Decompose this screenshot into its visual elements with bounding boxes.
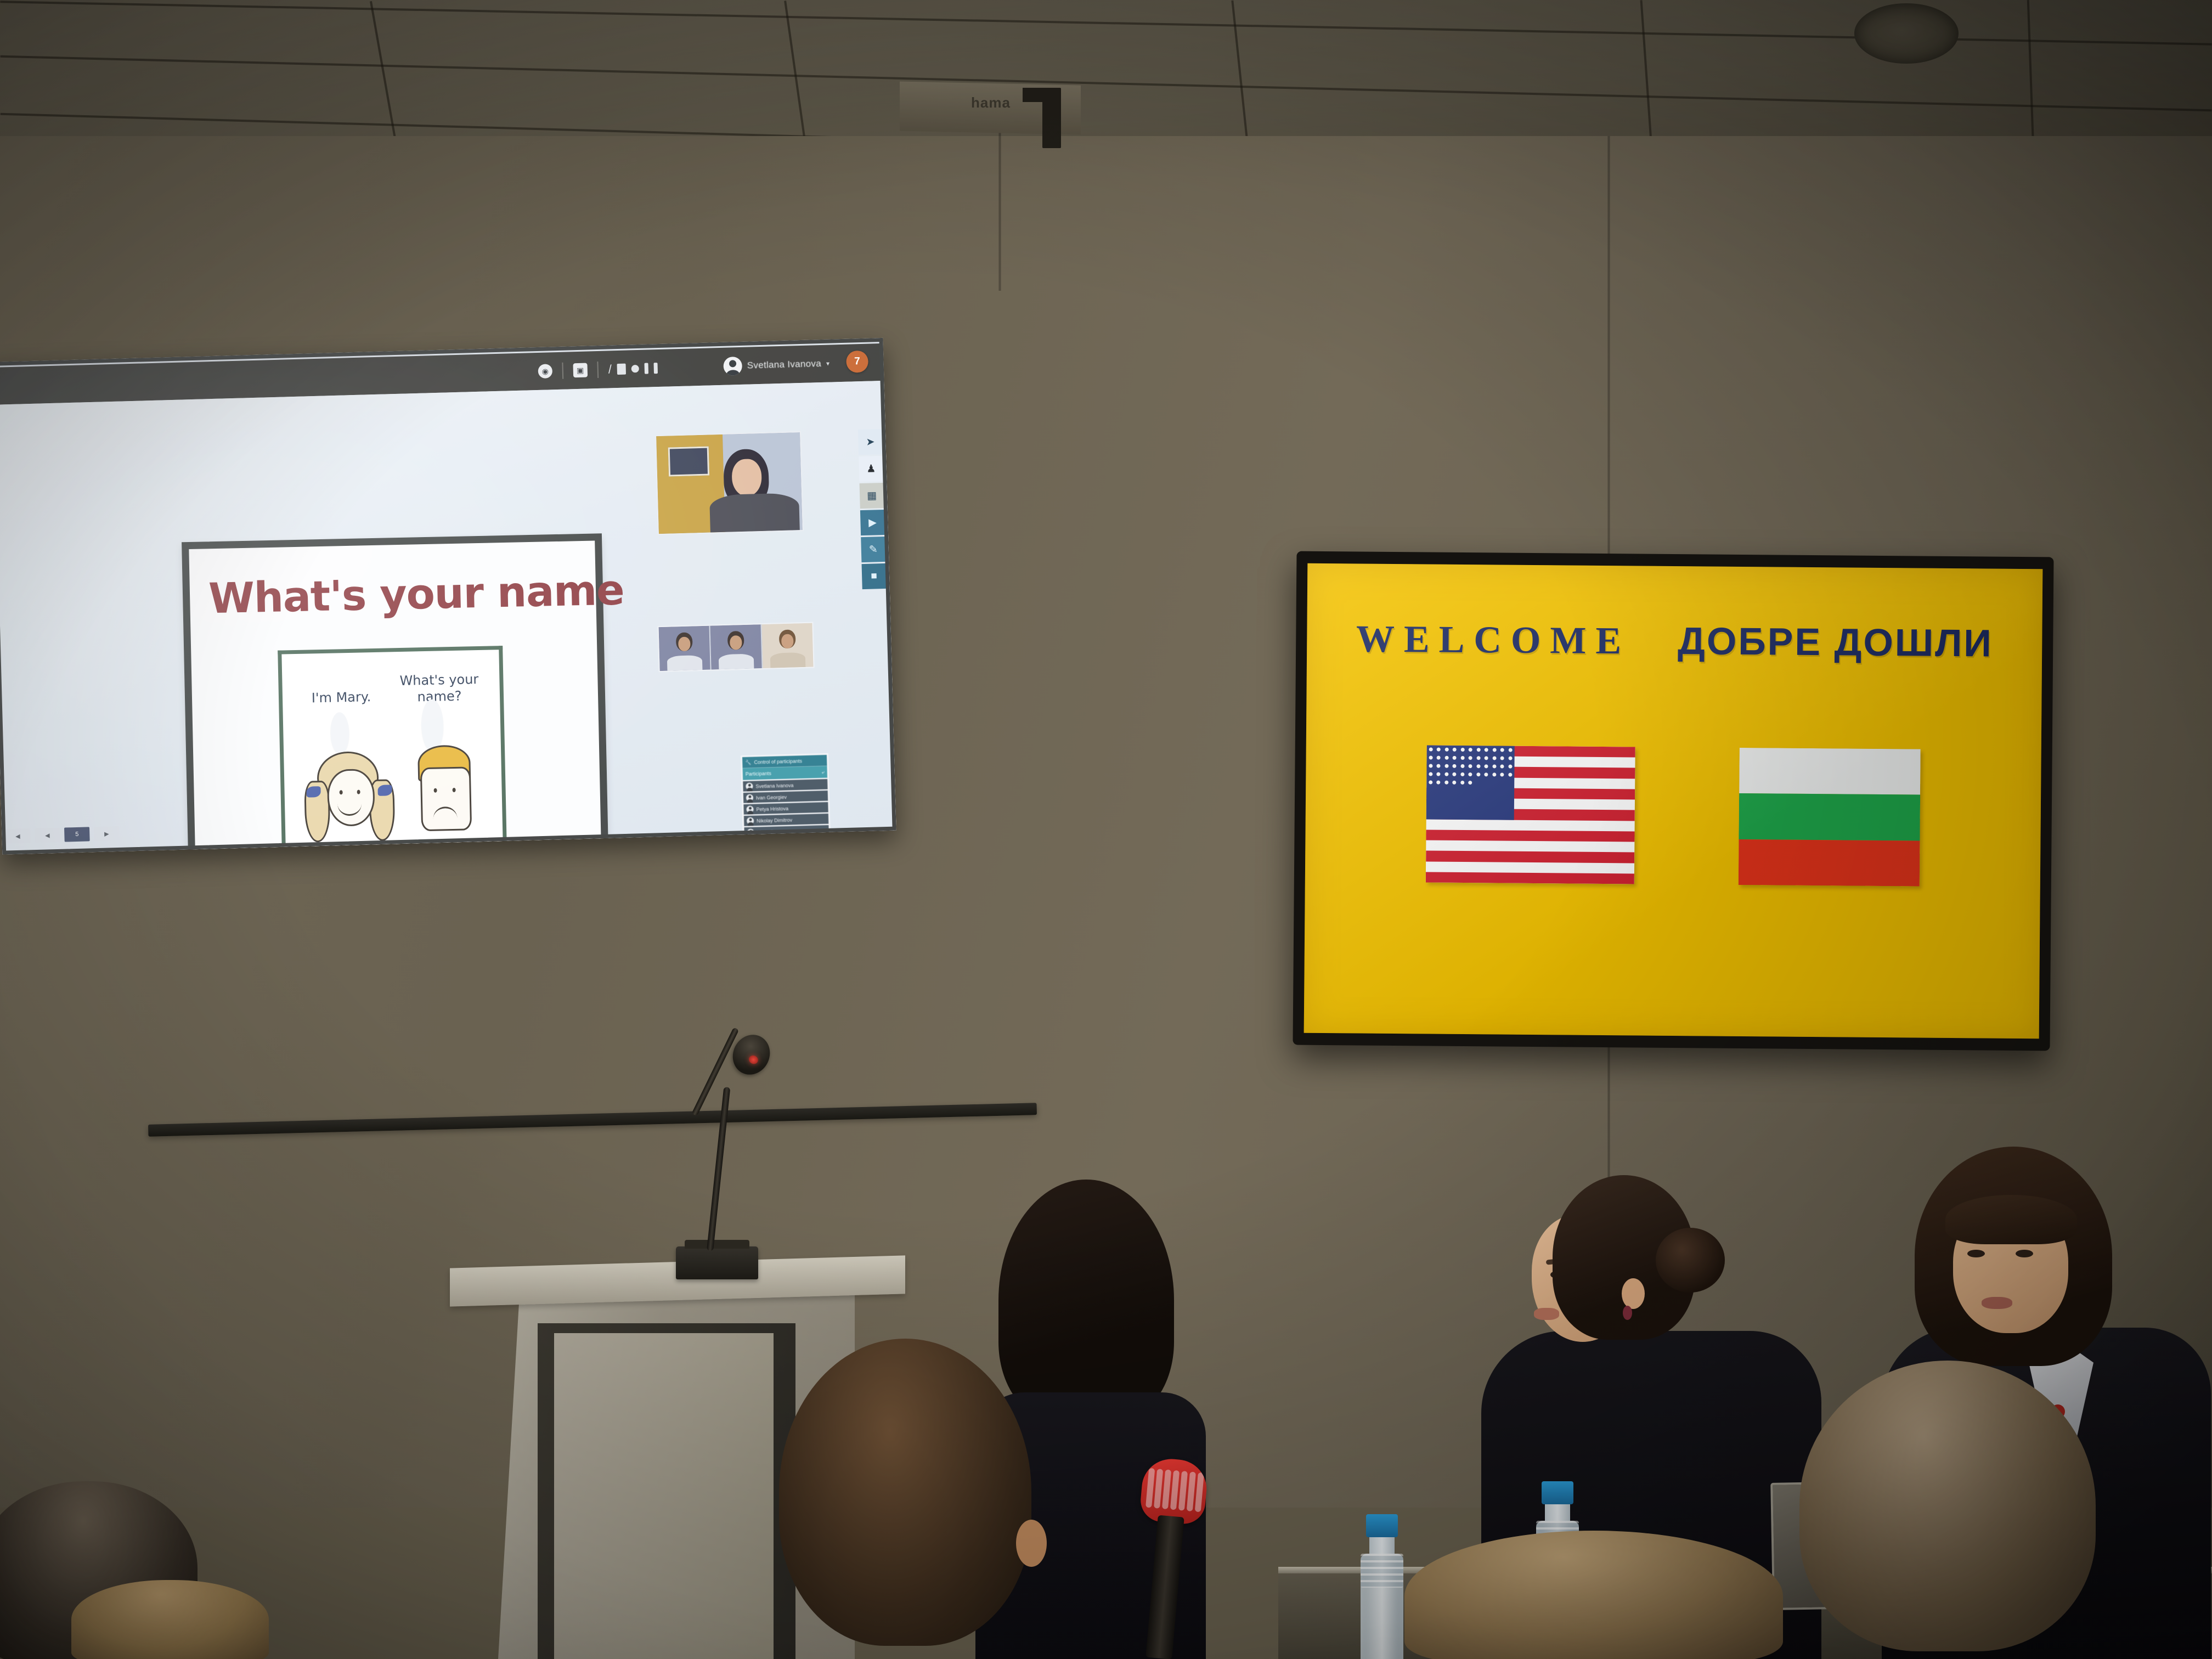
participants-subheader-label: Participants: [746, 771, 771, 777]
bob-woman-eye-right: [2016, 1250, 2033, 1257]
bottle-cap: [1366, 1514, 1398, 1537]
participant-name: Svetlana Ivanova: [755, 782, 793, 789]
panel-woman-ear: [1622, 1278, 1645, 1309]
lectern-inner-panel: [554, 1333, 774, 1659]
usa-flag-star: [1460, 756, 1464, 760]
usa-flag-star: [1444, 772, 1448, 776]
usa-flag-star: [1485, 756, 1488, 760]
audience-head-gray-hair: [1799, 1361, 2107, 1659]
usa-flag-star: [1508, 772, 1512, 776]
bulgaria-green-band: [1739, 793, 1920, 840]
usa-flag-star: [1460, 748, 1464, 752]
slide-title: What's your name: [208, 565, 624, 623]
mouse-pointer-icon[interactable]: ➤: [858, 429, 883, 455]
usa-flag-star: [1469, 781, 1472, 785]
usa-flag-star: [1444, 764, 1448, 768]
usa-flag-star: [1485, 772, 1488, 776]
audience-head-left-blond: [71, 1580, 280, 1659]
windscreen-slot: [1154, 1469, 1163, 1509]
microphone-handle: [1145, 1515, 1184, 1659]
grid-view-icon[interactable]: ▦: [860, 483, 884, 509]
usa-flag-icon: [1426, 745, 1635, 884]
audience-head-crown: [779, 1339, 1031, 1646]
participant-filmstrip[interactable]: [657, 622, 814, 673]
avatar: [746, 783, 753, 790]
windscreen-slot: [1170, 1470, 1180, 1510]
windscreen-slot: [1187, 1471, 1196, 1511]
windscreen-slot: [1162, 1469, 1171, 1509]
notification-badge[interactable]: 7: [846, 351, 868, 373]
slide-navigation-bar[interactable]: ◀ ◀ 5 ▶: [2, 822, 181, 846]
panel-woman-lips: [1534, 1308, 1559, 1320]
microphone-neck-lower: [707, 1087, 730, 1251]
participant-name: Nikolay Dimitrov: [757, 817, 792, 823]
usa-flag-star: [1476, 748, 1480, 752]
usa-flag-star: [1460, 781, 1464, 785]
tv-screen: WELCOME ДОБРЕ ДОШЛИ: [1304, 563, 2043, 1039]
audience-head-crown: [71, 1580, 269, 1659]
usa-flag-star: [1476, 772, 1480, 776]
audience-head-blond: [1404, 1531, 1788, 1659]
projection-screen: Meet ◉ ▣ / Svetlana Ivanova ▾ 7 What's y…: [0, 338, 896, 855]
usa-flag-star: [1469, 756, 1472, 760]
boy-character-icon: [408, 744, 481, 845]
usa-flag-star: [1469, 772, 1472, 776]
usa-flag-star: [1492, 772, 1496, 776]
usa-flag-stripe: [1426, 872, 1634, 884]
audience-head-crown: [1404, 1531, 1783, 1659]
usa-flag-star: [1469, 748, 1472, 752]
usa-flag-star: [1452, 781, 1456, 785]
ceiling-light-icon: [1854, 3, 1959, 64]
usa-flag-star: [1500, 756, 1504, 760]
microphone-base: [676, 1246, 758, 1279]
usa-flag-star: [1437, 756, 1441, 760]
participants-header-label: Control of participants: [754, 758, 802, 765]
bob-woman-eye-left: [1967, 1250, 1985, 1257]
usa-flag-star: [1453, 764, 1457, 768]
collapse-icon[interactable]: ⤶: [822, 769, 825, 775]
panel-woman-hair-bun: [1656, 1228, 1725, 1293]
usa-flag-star: [1444, 781, 1448, 785]
whiteboard-canvas: What's your name I'm Mary. What's your n…: [0, 381, 896, 855]
usa-flag-star: [1453, 756, 1457, 760]
hama-brand-label: hama: [971, 94, 1011, 111]
user-menu[interactable]: Svetlana Ivanova ▾: [723, 354, 830, 376]
gooseneck-microphone: [625, 1022, 768, 1279]
usa-flag-star: [1437, 764, 1441, 768]
microphone-neck-upper: [692, 1027, 740, 1116]
usa-flag-star: [1500, 748, 1504, 752]
avatar: [723, 357, 742, 376]
presentation-slide: What's your name I'm Mary. What's your n…: [182, 533, 610, 854]
girl-character-icon: [304, 751, 394, 845]
slide-illustration: I'm Mary. What's your name?: [278, 646, 507, 854]
toolbar-divider: [562, 363, 563, 379]
wrench-icon: 🔧: [745, 759, 752, 765]
screenshot-icon[interactable]: ▣: [573, 363, 588, 378]
chevron-down-icon[interactable]: ▾: [826, 360, 830, 368]
pointer-icon[interactable]: [654, 363, 658, 374]
picture-frame-icon: [668, 447, 709, 476]
nav-next-button[interactable]: ▶: [94, 826, 120, 841]
usa-flag-star: [1485, 764, 1488, 768]
usa-flag-star: [1453, 772, 1457, 776]
windscreen-slot: [1195, 1472, 1204, 1513]
presenter-body: [709, 493, 799, 533]
speech-bubble-right: What's your name?: [390, 671, 489, 706]
stop-square-icon[interactable]: ■: [862, 563, 887, 589]
wall-seam: [998, 126, 1001, 291]
bottle-ribs: [1361, 1554, 1403, 1588]
eraser-icon[interactable]: [645, 363, 649, 374]
bottle-neck: [1369, 1537, 1395, 1554]
audience-head-ear: [1016, 1520, 1047, 1567]
usa-flag-star: [1469, 764, 1472, 768]
usa-flag-star: [1460, 764, 1464, 768]
usa-flag-star: [1476, 764, 1480, 768]
user-name-label: Svetlana Ivanova: [747, 358, 822, 371]
usa-flag-canton: [1426, 745, 1515, 820]
wall-mounted-tv: WELCOME ДОБРЕ ДОШЛИ: [1293, 551, 2053, 1051]
usa-flag-stripe: [1426, 851, 1634, 863]
microphone-status-led: [747, 1054, 759, 1065]
nav-prev-button[interactable]: ◀: [35, 828, 60, 843]
audience-head-short-hair: [779, 1339, 1042, 1659]
marker-icon[interactable]: [631, 365, 639, 373]
bulgaria-flag-icon: [1739, 748, 1921, 887]
audience-head-crown: [1799, 1361, 2096, 1651]
usa-flag-star: [1437, 748, 1441, 752]
video-thumbnail[interactable]: [761, 623, 813, 668]
welcome-bulgarian-label: ДОБРЕ ДОШЛИ: [1678, 619, 1993, 665]
bob-woman-lips: [1982, 1297, 2012, 1309]
usa-flag-star: [1492, 764, 1496, 768]
usa-flag-star: [1444, 748, 1448, 752]
video-thumbnail[interactable]: [710, 624, 763, 670]
shape-icon[interactable]: [617, 364, 627, 375]
usa-flag-star: [1429, 764, 1432, 768]
screen-mount-bracket: [1042, 88, 1061, 148]
usa-flag-star: [1444, 756, 1448, 760]
bottle-neck: [1545, 1504, 1570, 1521]
usa-flag-star: [1460, 772, 1464, 776]
welcome-title-row: WELCOME ДОБРЕ ДОШЛИ: [1307, 616, 2042, 667]
tool-rail: ➤ ♟ ▦ ▶ ✎ ■: [858, 429, 887, 589]
panel-woman-earring: [1623, 1306, 1632, 1320]
microphone-windscreen: [1139, 1457, 1209, 1526]
usa-flag-star: [1492, 756, 1496, 760]
usa-flag-star: [1509, 748, 1513, 752]
usa-flag-star: [1508, 765, 1512, 769]
flags-row: [1305, 744, 2041, 888]
conference-room-scene: hama Meet ◉ ▣ / Svetlana Ivanova ▾ 7 Wh: [0, 0, 2212, 1659]
video-tile-presenter[interactable]: [655, 431, 804, 535]
avatar: [746, 794, 753, 802]
water-bottle: [1361, 1514, 1403, 1659]
toolbar-divider: [597, 362, 599, 378]
play-icon[interactable]: ▶: [860, 510, 885, 535]
welcome-english-label: WELCOME: [1356, 617, 1631, 663]
usa-flag-star: [1437, 772, 1441, 776]
usa-flag-star: [1500, 772, 1504, 776]
windscreen-slot: [1178, 1471, 1188, 1511]
windscreen-slot: [1145, 1468, 1155, 1508]
record-icon[interactable]: ◉: [538, 364, 552, 379]
bottle-body: [1361, 1554, 1403, 1659]
pencil-icon[interactable]: ✎: [861, 537, 885, 562]
bottle-cap: [1542, 1481, 1573, 1504]
usa-flag-star: [1436, 780, 1440, 784]
usa-flag-star: [1485, 748, 1488, 752]
video-thumbnail[interactable]: [659, 626, 712, 672]
usa-flag-star: [1500, 764, 1504, 768]
slide-number-indicator[interactable]: 5: [64, 827, 90, 842]
usa-flag-stripe: [1426, 830, 1634, 842]
usa-flag-star: [1429, 755, 1432, 759]
bob-woman-fringe: [1945, 1195, 2077, 1244]
usa-flag-star: [1493, 748, 1497, 752]
participant-name: Ivan Georgiev: [756, 794, 787, 800]
nav-first-button[interactable]: ◀: [5, 828, 31, 843]
avatar: [747, 817, 754, 825]
usa-flag-star: [1429, 780, 1432, 784]
speech-bubble-left: I'm Mary.: [295, 688, 388, 707]
usa-flag-star: [1453, 748, 1457, 752]
bulgaria-white-band: [1739, 748, 1921, 795]
avatar: [746, 806, 753, 813]
usa-flag-star: [1429, 772, 1432, 776]
participants-panel[interactable]: 🔧 Control of participants Participants ⤶…: [741, 753, 831, 839]
usa-flag-star: [1429, 747, 1432, 751]
usa-flag-star: [1476, 756, 1480, 760]
usa-flag-star: [1508, 757, 1512, 760]
pen-icon[interactable]: /: [608, 362, 612, 376]
bulgaria-red-band: [1739, 839, 1920, 887]
person-icon[interactable]: ♟: [859, 456, 883, 482]
participant-name: Petya Hristova: [756, 805, 788, 812]
